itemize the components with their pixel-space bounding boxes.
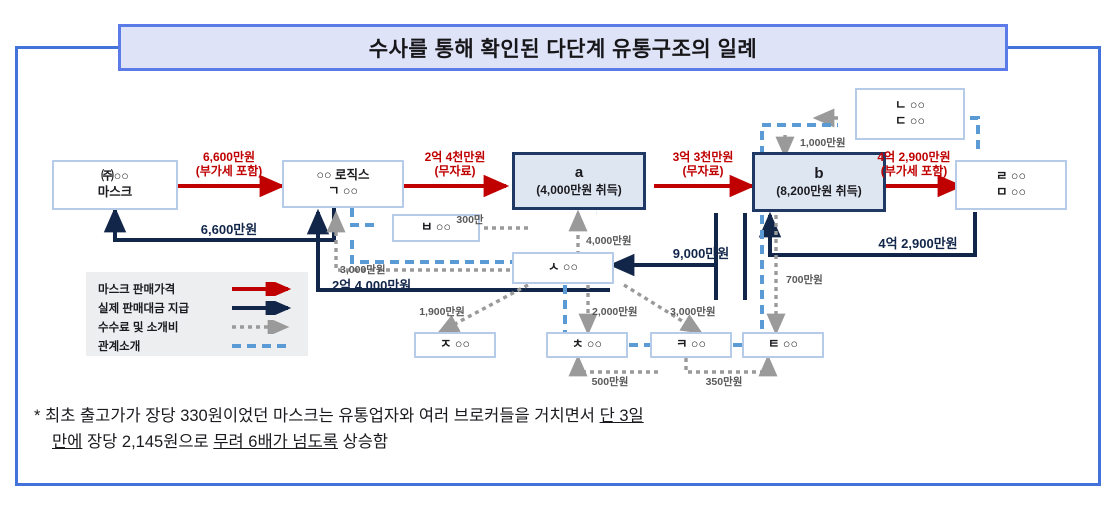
footnote-line1-text: 최초 출고가가 장당 330원이었던 마스크는 유통업자와 여러 브로커들을 거…: [45, 407, 600, 425]
footnote-line1-underline: 단 3일: [600, 407, 644, 425]
legend-label-intro: 관계소개: [98, 338, 230, 354]
legend: 마스크 판매가격 실제 판매대금 지급 수수료 및 소개비: [86, 272, 308, 356]
node-b-sub: (8,200만원 취득): [776, 184, 862, 199]
node-tieut-line1: ㅌ ○○: [768, 337, 798, 353]
node-kieuk[interactable]: ㅋ ○○: [650, 332, 732, 358]
footnote-line-2: 만에 장당 2,145원으로 무려 6배가 넘도록 상승함: [34, 430, 1084, 456]
footnote: * 최초 출고가가 장당 330원이었던 마스크는 유통업자와 여러 브로커들을…: [34, 404, 1084, 455]
label-b-to-siot: 9,000만원: [648, 246, 754, 262]
label-bieup-fee: 300만: [440, 214, 500, 227]
footnote-marker: *: [34, 407, 40, 425]
node-mask-line2: 마스크: [98, 185, 133, 201]
node-rm-line2: ㅁ ○○: [996, 185, 1026, 201]
footnote-line-1: * 최초 출고가가 장당 330원이었던 마스크는 유통업자와 여러 브로커들을…: [34, 404, 1084, 430]
node-nd[interactable]: ㄴ ○○ ㄷ ○○: [855, 88, 965, 140]
legend-item-price: 마스크 판매가격: [98, 279, 298, 298]
node-mask-line1: ㈜○○: [101, 169, 129, 185]
legend-swatch-fee-arrow: [230, 320, 298, 334]
node-chieut[interactable]: ㅊ ○○: [546, 332, 628, 358]
node-nd-line1: ㄴ ○○: [895, 98, 925, 114]
node-a-sub: (4,000만원 취득): [536, 183, 622, 198]
node-logistics-line1: ○○ 로직스: [316, 168, 369, 184]
node-logistics-line2: ㄱ ○○: [328, 184, 358, 200]
node-rm-line1: ㄹ ○○: [996, 169, 1026, 185]
title-box: 수사를 통해 확인된 다단계 유통구조의 일례: [118, 24, 1008, 71]
label-siot-to-chieut-fee: 2,000만원: [592, 306, 664, 319]
footnote-line2-tail: 상승함: [338, 433, 388, 451]
label-b-to-rm: 4억 2,900만원 (부가세 포함): [855, 150, 973, 179]
legend-item-intro: 관계소개: [98, 336, 298, 355]
legend-swatch-intro-line: [230, 339, 298, 353]
legend-item-payment: 실제 판매대금 지급: [98, 298, 298, 317]
label-a-to-logistics: 2억 4,000만원: [332, 278, 472, 294]
label-chieut-kieuk-fee: 500만원: [574, 376, 646, 389]
footnote-line2-text: 장당 2,145원으로: [82, 433, 213, 451]
node-siot-line1: ㅅ ○○: [548, 260, 578, 276]
legend-label-price: 마스크 판매가격: [98, 281, 230, 297]
label-logistics-to-mask: 6,600만원: [176, 222, 282, 238]
label-siot-to-kieuk-fee: 3,000만원: [670, 306, 742, 319]
node-a-main: a: [575, 164, 583, 183]
footnote-line2-underline-1: 만에: [52, 433, 82, 451]
label-nd-fee: 1,000만원: [800, 137, 870, 150]
label-siot-to-jieut-fee: 1,900만원: [406, 306, 478, 319]
label-b-to-tieut-fee: 700만원: [786, 274, 850, 287]
footnote-line2-underline-2: 무려 6배가 넘도록: [213, 433, 338, 451]
label-a-to-b: 3억 3천만원 (무자료): [648, 150, 758, 179]
legend-swatch-price-arrow: [230, 282, 298, 296]
node-mask[interactable]: ㈜○○ 마스크: [52, 160, 178, 210]
label-siot-to-a-fee: 4,000만원: [586, 235, 658, 248]
label-logistics-to-a: 2억 4천만원 (무자료): [399, 150, 511, 179]
node-siot[interactable]: ㅅ ○○: [512, 252, 614, 284]
legend-swatch-payment-arrow: [230, 301, 298, 315]
node-kieuk-line1: ㅋ ○○: [676, 337, 706, 353]
node-a[interactable]: a (4,000만원 취득): [512, 152, 646, 210]
node-b-main: b: [814, 165, 823, 184]
label-rm-to-b: 4억 2,900만원: [848, 236, 988, 252]
label-kieuk-tieut-fee: 350만원: [688, 376, 760, 389]
legend-label-payment: 실제 판매대금 지급: [98, 300, 230, 316]
node-tieut[interactable]: ㅌ ○○: [742, 332, 824, 358]
node-nd-line2: ㄷ ○○: [895, 114, 925, 130]
node-logistics[interactable]: ○○ 로직스 ㄱ ○○: [282, 160, 404, 208]
node-chieut-line1: ㅊ ○○: [572, 337, 602, 353]
legend-item-fee: 수수료 및 소개비: [98, 317, 298, 336]
page-title: 수사를 통해 확인된 다단계 유통구조의 일례: [369, 33, 757, 63]
diagram-root: 수사를 통해 확인된 다단계 유통구조의 일례: [0, 0, 1118, 505]
label-mask-to-logistics: 6,600만원 (부가세 포함): [176, 150, 282, 179]
node-jieut-line1: ㅈ ○○: [440, 337, 470, 353]
legend-label-fee: 수수료 및 소개비: [98, 319, 230, 335]
label-siot-to-logistics-fee: 3,000만원: [340, 264, 412, 277]
node-jieut[interactable]: ㅈ ○○: [414, 332, 496, 358]
